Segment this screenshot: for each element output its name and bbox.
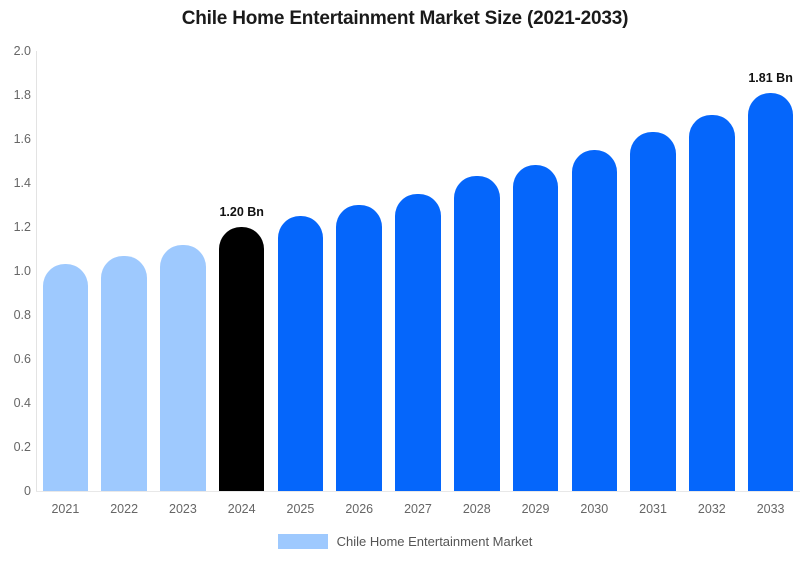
bar-2023[interactable]	[160, 245, 206, 491]
y-axis-tick-label: 1.2	[1, 220, 31, 234]
bar-group	[395, 51, 441, 491]
bar-2021[interactable]	[43, 264, 89, 491]
bar-group: 1.81 Bn	[748, 51, 794, 491]
x-axis-tick-label: 2027	[389, 502, 448, 516]
chart-title: Chile Home Entertainment Market Size (20…	[0, 8, 810, 30]
y-axis-tick-label: 0.2	[1, 440, 31, 454]
x-axis-tick-label: 2022	[95, 502, 154, 516]
chart-legend: Chile Home Entertainment Market	[0, 534, 810, 549]
x-axis-tick-label: 2031	[624, 502, 683, 516]
bar-2031[interactable]	[630, 132, 676, 491]
bar-group	[101, 51, 147, 491]
bar-group: 1.20 Bn	[219, 51, 265, 491]
y-axis-tick-label: 1.4	[1, 176, 31, 190]
plot-area: 1.20 Bn1.81 Bn	[36, 51, 800, 491]
y-axis-tick-label: 0.6	[1, 352, 31, 366]
bar-2028[interactable]	[454, 176, 500, 491]
bar-2026[interactable]	[336, 205, 382, 491]
x-axis-tick-label: 2033	[741, 502, 800, 516]
y-axis-tick-label: 0	[1, 484, 31, 498]
y-axis-tick-label: 0.8	[1, 308, 31, 322]
legend-swatch-icon	[278, 534, 328, 549]
bar-group	[43, 51, 89, 491]
bar-group	[278, 51, 324, 491]
bar-group	[689, 51, 735, 491]
x-axis-tick-label: 2032	[682, 502, 741, 516]
x-axis-tick-label: 2028	[447, 502, 506, 516]
x-axis-tick-label: 2021	[36, 502, 95, 516]
x-axis-tick-label: 2024	[212, 502, 271, 516]
bar-group	[160, 51, 206, 491]
x-axis-tick-label: 2023	[154, 502, 213, 516]
x-axis-tick-label: 2025	[271, 502, 330, 516]
x-axis-tick-label: 2029	[506, 502, 565, 516]
bar-group	[454, 51, 500, 491]
bar-group	[630, 51, 676, 491]
x-axis-line	[36, 491, 800, 492]
y-axis-tick-label: 0.4	[1, 396, 31, 410]
bar-group	[336, 51, 382, 491]
y-axis-tick-label: 1.0	[1, 264, 31, 278]
x-axis-tick-label: 2030	[565, 502, 624, 516]
bar-2033[interactable]	[748, 93, 794, 491]
y-axis-tick-label: 1.6	[1, 132, 31, 146]
bar-2030[interactable]	[572, 150, 618, 491]
bar-group	[572, 51, 618, 491]
bar-value-label: 1.20 Bn	[219, 205, 263, 219]
bar-2024[interactable]	[219, 227, 265, 491]
y-axis-tick-label: 2.0	[1, 44, 31, 58]
bar-2032[interactable]	[689, 115, 735, 491]
x-axis-tick-label: 2026	[330, 502, 389, 516]
bar-value-label: 1.81 Bn	[748, 71, 792, 85]
bar-2025[interactable]	[278, 216, 324, 491]
bar-2029[interactable]	[513, 165, 559, 491]
legend-label: Chile Home Entertainment Market	[337, 534, 533, 549]
bar-group	[513, 51, 559, 491]
y-axis: 00.20.40.60.81.01.21.41.61.82.0	[0, 0, 31, 562]
bar-2022[interactable]	[101, 256, 147, 491]
y-axis-tick-label: 1.8	[1, 88, 31, 102]
bar-chart: Chile Home Entertainment Market Size (20…	[0, 0, 810, 562]
bar-2027[interactable]	[395, 194, 441, 491]
